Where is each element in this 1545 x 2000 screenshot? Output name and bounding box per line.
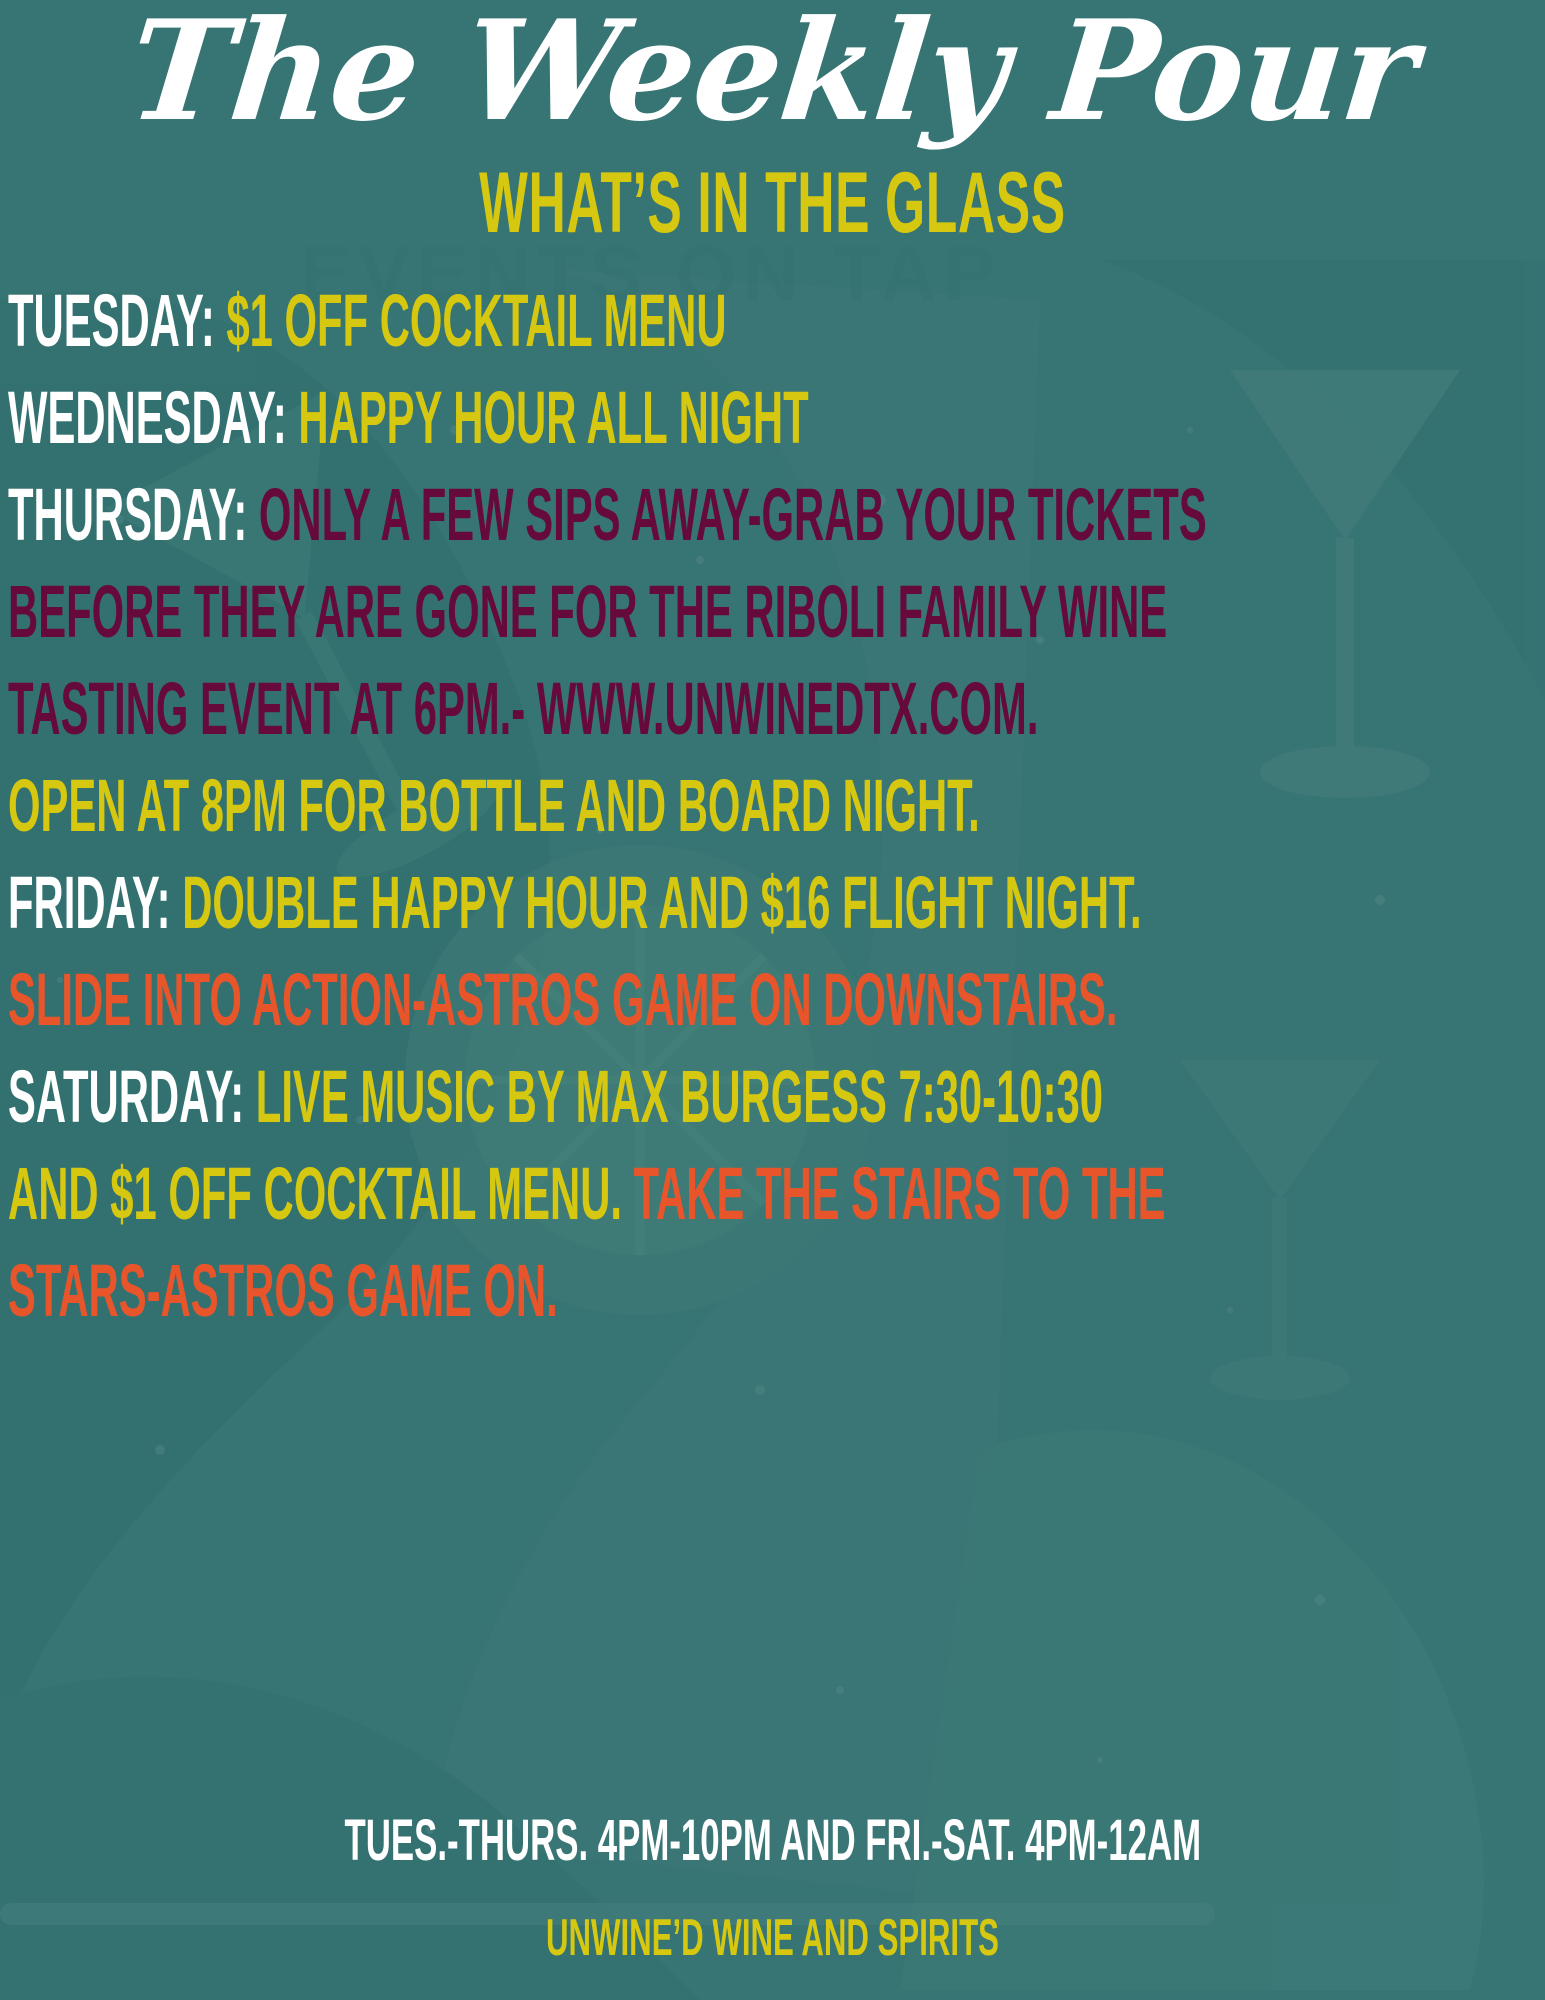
schedule-list: TUESDAY: $1 OFF COCKTAIL MENU WEDNESDAY:… bbox=[0, 272, 1545, 1339]
day-label-tuesday: TUESDAY: bbox=[8, 279, 215, 362]
saturday-astros-line: STARS-ASTROS GAME ON. bbox=[8, 1249, 558, 1332]
saturday-line-2a: AND $1 OFF COCKTAIL MENU. bbox=[8, 1152, 622, 1235]
thursday-bottle-board-line: OPEN AT 8PM FOR BOTTLE AND BOARD NIGHT. bbox=[8, 764, 980, 847]
list-item: TUESDAY: $1 OFF COCKTAIL MENU bbox=[0, 272, 1545, 369]
thursday-line-3-website[interactable]: TASTING EVENT AT 6PM.- WWW.UNWINEDTX.COM… bbox=[8, 667, 1038, 750]
business-name-inner: UNWINE’D WINE AND SPIRITS bbox=[546, 1912, 999, 1964]
list-item: OPEN AT 8PM FOR BOTTLE AND BOARD NIGHT. bbox=[0, 757, 1545, 854]
day-detail-saturday: LIVE MUSIC BY MAX BURGESS 7:30-10:30 bbox=[256, 1055, 1103, 1138]
day-detail-friday: DOUBLE HAPPY HOUR AND $16 FLIGHT NIGHT. bbox=[182, 861, 1141, 944]
poster-content: The Weekly Pour WHAT’S IN THE GLASS TUES… bbox=[0, 0, 1545, 2000]
page-subtitle: WHAT’S IN THE GLASS bbox=[309, 160, 1236, 246]
list-item: SATURDAY: LIVE MUSIC BY MAX BURGESS 7:30… bbox=[0, 1048, 1545, 1145]
hours-text-inner: TUES.-THURS. 4PM-10PM AND FRI.-SAT. 4PM-… bbox=[344, 1812, 1201, 1870]
day-detail-tuesday: $1 OFF COCKTAIL MENU bbox=[226, 279, 726, 362]
list-item: STARS-ASTROS GAME ON. bbox=[0, 1242, 1545, 1339]
day-label-thursday: THURSDAY: bbox=[8, 473, 247, 556]
friday-astros-line: SLIDE INTO ACTION-ASTROS GAME ON DOWNSTA… bbox=[8, 958, 1118, 1041]
day-detail-wednesday: HAPPY HOUR ALL NIGHT bbox=[298, 376, 808, 459]
day-label-friday: FRIDAY: bbox=[8, 861, 171, 944]
day-detail-thursday: ONLY A FEW SIPS AWAY-GRAB YOUR TICKETS bbox=[259, 473, 1207, 556]
list-item: AND $1 OFF COCKTAIL MENU. TAKE THE STAIR… bbox=[0, 1145, 1545, 1242]
list-item: BEFORE THEY ARE GONE FOR THE RIBOLI FAMI… bbox=[0, 563, 1545, 660]
list-item: FRIDAY: DOUBLE HAPPY HOUR AND $16 FLIGHT… bbox=[0, 854, 1545, 951]
day-label-saturday: SATURDAY: bbox=[8, 1055, 244, 1138]
list-item: THURSDAY: ONLY A FEW SIPS AWAY-GRAB YOUR… bbox=[0, 466, 1545, 563]
business-name: UNWINE’D WINE AND SPIRITS bbox=[0, 1912, 1545, 1964]
day-label-wednesday: WEDNESDAY: bbox=[8, 376, 287, 459]
list-item: WEDNESDAY: HAPPY HOUR ALL NIGHT bbox=[0, 369, 1545, 466]
saturday-line-2b: TAKE THE STAIRS TO THE bbox=[622, 1152, 1166, 1235]
list-item: TASTING EVENT AT 6PM.- WWW.UNWINEDTX.COM… bbox=[0, 660, 1545, 757]
page-title: The Weekly Pour bbox=[0, 2, 1545, 140]
hours-text: TUES.-THURS. 4PM-10PM AND FRI.-SAT. 4PM-… bbox=[0, 1812, 1545, 1870]
thursday-line-2: BEFORE THEY ARE GONE FOR THE RIBOLI FAMI… bbox=[8, 570, 1167, 653]
list-item: SLIDE INTO ACTION-ASTROS GAME ON DOWNSTA… bbox=[0, 951, 1545, 1048]
